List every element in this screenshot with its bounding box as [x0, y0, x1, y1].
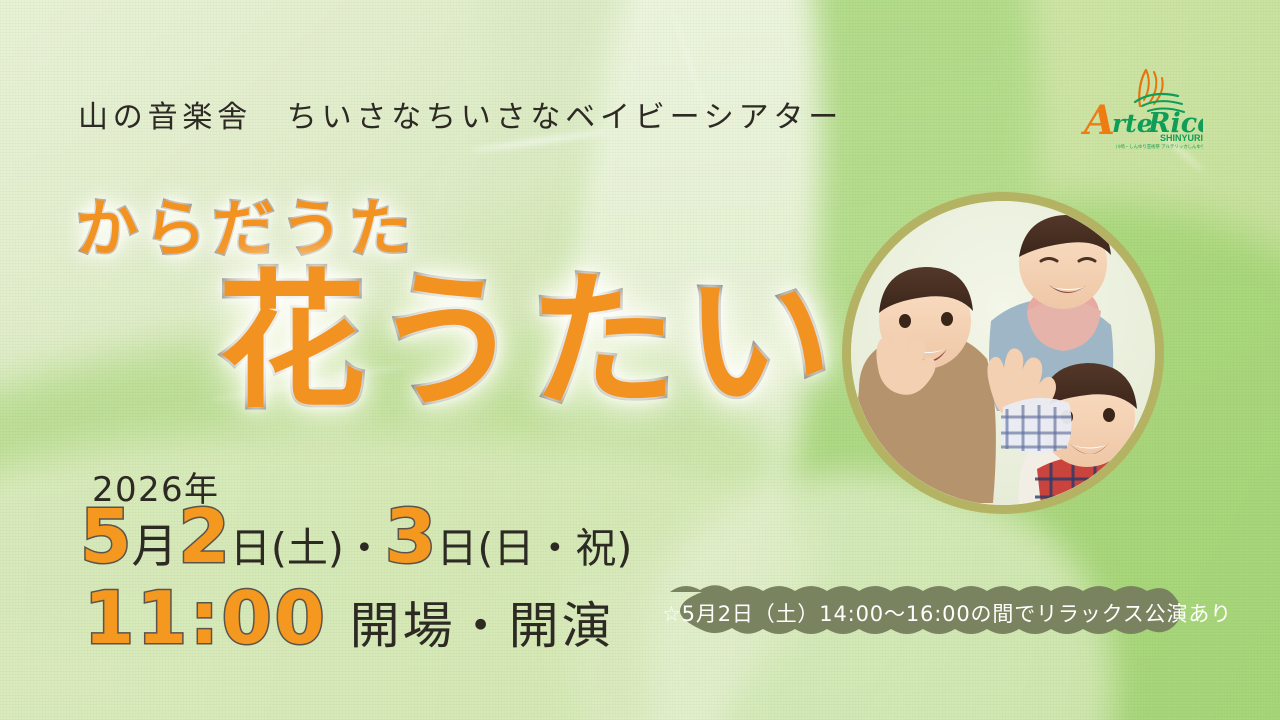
svg-text:rte: rte [1112, 109, 1153, 138]
date-day2-number: 3 [385, 494, 437, 580]
arte-ricca-logo[interactable]: A rte Ricca SHINYURI 川崎・しんゆり芸術祭 アルテリッカしん… [1078, 62, 1203, 150]
logo-tagline: 川崎・しんゆり芸術祭 アルテリッカしんゆり [1116, 143, 1203, 150]
relax-performance-banner: ☆5月2日（土）14:00〜16:00の間でリラックス公演あり [636, 582, 1258, 644]
time-value: 11:00 [84, 576, 328, 660]
date-month-number: 5 [80, 494, 132, 580]
date-line: 5月2日(土)・3日(日・祝) [80, 500, 632, 574]
date-day1-number: 2 [178, 494, 230, 580]
headline-text: 山の音楽舎 ちいさなちいさなベイビーシアター [78, 92, 843, 136]
date-separator: ・ [344, 524, 385, 572]
date-month-kanji: 月 [132, 519, 179, 573]
date-day1-weekday: (土) [271, 524, 344, 572]
photo-circle [842, 192, 1164, 514]
date-day2-kanji: 日 [436, 524, 477, 572]
poster-canvas: 山の音楽舎 ちいさなちいさなベイビーシアター A rte Ricca SHINY… [0, 0, 1280, 720]
logo-sub-shinyuri: SHINYURI [1160, 133, 1203, 143]
title-main: 花うたい [218, 268, 840, 416]
wheat-leaf-icon [1135, 70, 1184, 112]
title-subtitle: からだうた [76, 178, 417, 268]
baby-top-pants [1001, 398, 1072, 453]
banner-text: ☆5月2日（土）14:00〜16:00の間でリラックス公演あり [636, 582, 1258, 644]
photo-image [851, 201, 1155, 505]
date-day1-kanji: 日 [230, 524, 271, 572]
photo-ring-border [842, 192, 1164, 514]
time-line: 11:00開場・開演 [84, 582, 615, 654]
time-label: 開場・開演 [350, 597, 615, 655]
svg-text:A: A [1080, 97, 1115, 144]
date-day2-weekday: (日・祝) [477, 524, 632, 572]
